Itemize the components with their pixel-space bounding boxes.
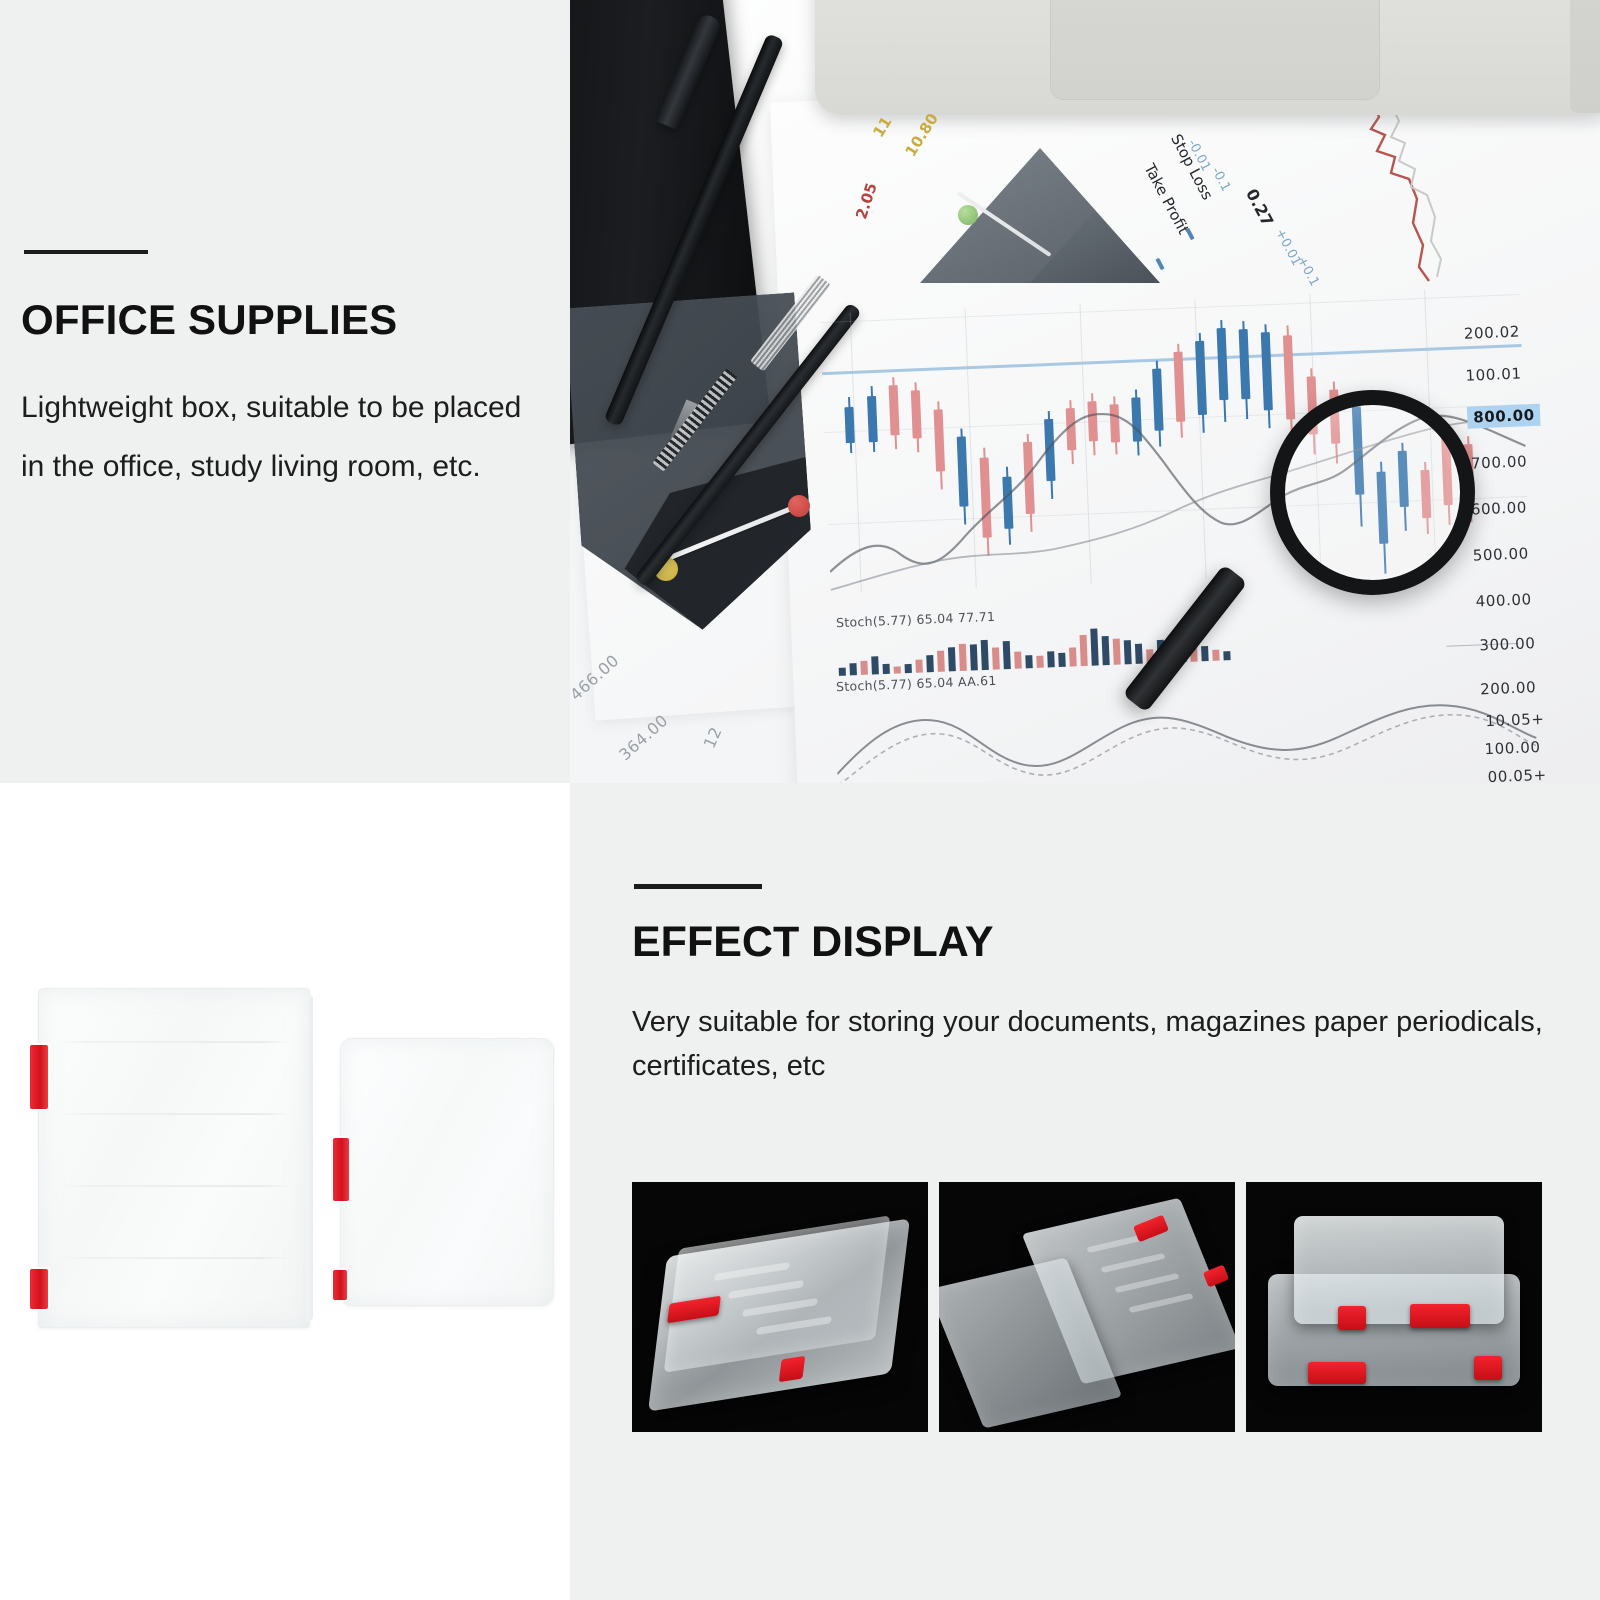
box-clip-icon	[333, 1270, 347, 1300]
axis-tick: 400.00	[1475, 590, 1532, 610]
sparkline-red	[1365, 95, 1545, 305]
axis-tick: 100.00	[1484, 738, 1541, 758]
thumbnail-box-opened-flat[interactable]	[939, 1182, 1235, 1432]
laptop-right-edge	[1570, 0, 1600, 113]
thumbnail-closed-box-top[interactable]	[632, 1182, 928, 1432]
office-supplies-description: Lightweight box, suitable to be placed i…	[21, 378, 551, 496]
product-box-small	[340, 1038, 554, 1306]
axis-tick: 700.00	[1471, 452, 1528, 472]
box-clip-icon	[333, 1138, 349, 1201]
product-photo-panel	[0, 783, 570, 1600]
heading-accent-rule	[24, 250, 148, 254]
box-clip-icon	[1410, 1304, 1470, 1328]
axis-tick: 500.00	[1472, 544, 1529, 564]
laptop-trackpad	[1050, 0, 1380, 100]
heading-accent-rule	[634, 884, 762, 889]
thumbnail-closed-box-front[interactable]	[1246, 1182, 1542, 1432]
axis-tick: 100.01	[1465, 364, 1522, 384]
box-clip-icon	[1474, 1356, 1502, 1380]
product-box-large	[38, 988, 310, 1328]
axis-tick: 300.00	[1479, 634, 1536, 654]
office-supplies-panel: OFFICE SUPPLIES Lightweight box, suitabl…	[0, 0, 570, 783]
hero-desk-photo: Stoch(5.77) 65.04 77.71	[570, 0, 1600, 783]
effect-display-heading: EFFECT DISPLAY	[632, 918, 994, 967]
pin-head-red-icon	[788, 495, 810, 517]
office-supplies-heading: OFFICE SUPPLIES	[21, 296, 397, 344]
axis-tick-highlighted: 800.00	[1467, 404, 1541, 429]
box-clip-icon	[30, 1045, 48, 1109]
axis-tick: 600.00	[1471, 498, 1528, 518]
axis-tick: 10.05+	[1485, 710, 1545, 730]
pin-head-green-icon	[958, 205, 978, 225]
axis-tick: 00.05+	[1487, 766, 1547, 783]
axis-tick: 200.02	[1464, 323, 1521, 343]
sheet-label-12: 12	[700, 724, 726, 751]
axis-tick: 200.00	[1480, 678, 1537, 698]
magnifier-lens	[1270, 390, 1475, 595]
sheet-label-364: 364.00	[615, 711, 672, 765]
effect-display-description: Very suitable for storing your documents…	[632, 1000, 1562, 1088]
product-detail-page: OFFICE SUPPLIES Lightweight box, suitabl…	[0, 0, 1600, 1600]
box-clip-icon	[1338, 1306, 1366, 1330]
effect-display-thumbnails	[632, 1182, 1542, 1442]
box-clip-icon	[30, 1269, 48, 1309]
box-clip-icon	[1308, 1362, 1366, 1384]
